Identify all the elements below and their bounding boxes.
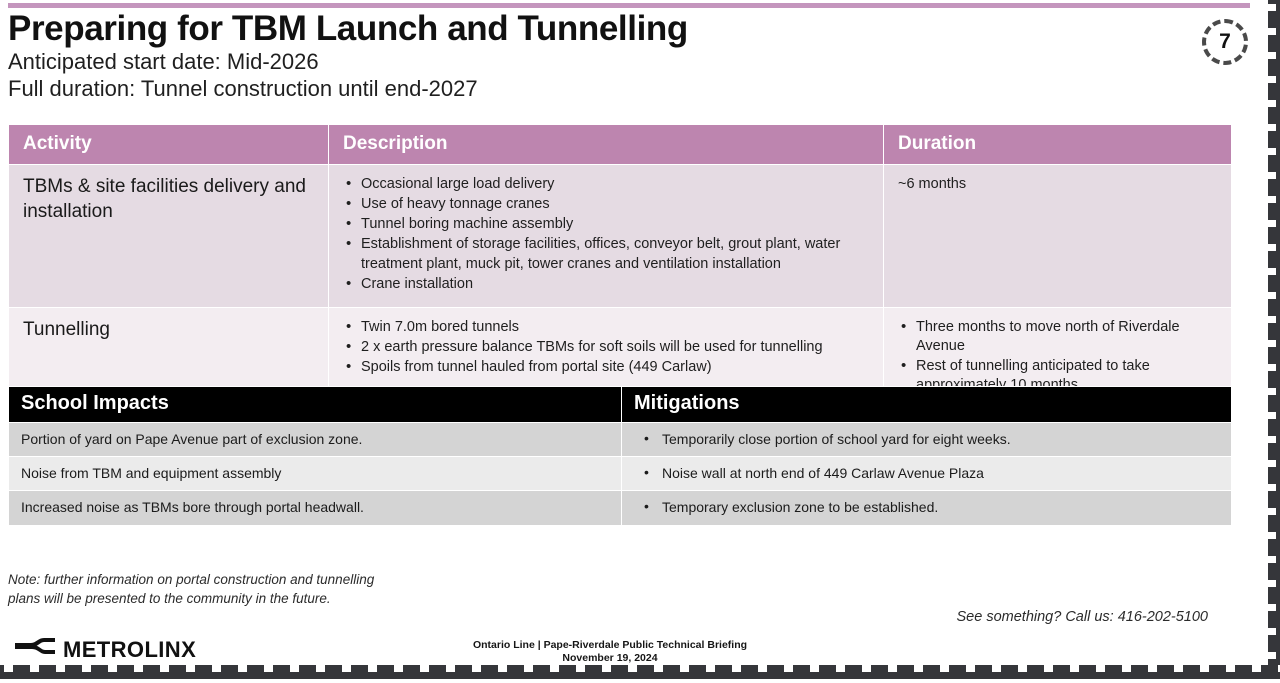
cell-mitigation: Temporarily close portion of school yard…	[622, 423, 1232, 457]
frame-tick	[1268, 148, 1276, 155]
frame-tick	[134, 665, 143, 672]
metrolinx-logo: METROLINX	[14, 636, 196, 663]
activity-name: Tunnelling	[23, 318, 316, 343]
subtitle-start-date: Anticipated start date: Mid-2026	[8, 48, 1158, 76]
subtitle-full-duration: Full duration: Tunnel construction until…	[8, 75, 1158, 103]
frame-tick	[30, 665, 39, 672]
metrolinx-crossing-lines-icon	[14, 636, 56, 663]
frame-tick	[472, 665, 481, 672]
list-item: Twin 7.0m bored tunnels	[343, 318, 871, 337]
frame-tick	[1268, 508, 1276, 515]
table-row: Noise from TBM and equipment assembly No…	[9, 457, 1232, 491]
frame-tick	[1252, 665, 1261, 672]
list-item: Crane installation	[343, 275, 871, 294]
list-item: Tunnel boring machine assembly	[343, 215, 871, 234]
activity-table-header-row: Activity Description Duration	[9, 125, 1232, 165]
frame-tick	[732, 665, 741, 672]
contact-callout: See something? Call us: 416-202-5100	[957, 609, 1209, 625]
bottom-edge-dashed-frame	[0, 665, 1280, 679]
frame-tick	[1268, 484, 1276, 491]
column-header-school-impacts: School Impacts	[9, 387, 622, 423]
frame-tick	[992, 665, 1001, 672]
column-header-description: Description	[329, 125, 884, 165]
frame-tick	[264, 665, 273, 672]
frame-tick	[654, 665, 663, 672]
mitigation-text: Noise wall at north end of 449 Carlaw Av…	[640, 464, 1221, 482]
frame-tick	[784, 665, 793, 672]
frame-tick	[1122, 665, 1131, 672]
frame-tick	[1268, 652, 1276, 659]
footnote: Note: further information on portal cons…	[8, 570, 528, 608]
frame-tick	[316, 665, 325, 672]
cell-impact: Increased noise as TBMs bore through por…	[9, 491, 622, 525]
page-number-value: 7	[1219, 30, 1231, 54]
frame-tick	[1268, 76, 1276, 83]
frame-tick	[680, 665, 689, 672]
frame-tick	[1268, 460, 1276, 467]
frame-tick	[1268, 4, 1276, 11]
cell-description: Occasional large load deliveryUse of hea…	[329, 165, 884, 308]
frame-tick	[1268, 604, 1276, 611]
frame-tick	[1200, 665, 1209, 672]
list-item: Three months to move north of Riverdale …	[898, 318, 1219, 356]
frame-tick	[394, 665, 403, 672]
frame-tick	[1226, 665, 1235, 672]
frame-tick	[810, 665, 819, 672]
page-number-badge: 7	[1202, 19, 1248, 65]
frame-tick	[1268, 292, 1276, 299]
frame-tick	[1268, 52, 1276, 59]
frame-tick	[836, 665, 845, 672]
frame-tick	[1268, 172, 1276, 179]
frame-tick	[1268, 100, 1276, 107]
top-accent-rule	[8, 3, 1250, 8]
cell-activity: TBMs & site facilities delivery and inst…	[9, 165, 329, 308]
column-header-duration: Duration	[884, 125, 1232, 165]
frame-tick	[82, 665, 91, 672]
frame-tick	[342, 665, 351, 672]
list-item: Spoils from tunnel hauled from portal si…	[343, 358, 871, 377]
frame-tick	[628, 665, 637, 672]
frame-tick	[1268, 124, 1276, 131]
table-row: TBMs & site facilities delivery and inst…	[9, 165, 1232, 308]
table-row: Portion of yard on Pape Avenue part of e…	[9, 423, 1232, 457]
column-header-activity: Activity	[9, 125, 329, 165]
footnote-line-1: Note: further information on portal cons…	[8, 570, 528, 589]
frame-tick	[914, 665, 923, 672]
list-item: Establishment of storage facilities, off…	[343, 235, 871, 273]
frame-tick	[1174, 665, 1183, 672]
frame-tick	[1268, 412, 1276, 419]
cell-duration: ~6 months	[884, 165, 1232, 308]
duration-value: ~6 months	[898, 175, 1219, 194]
mitigation-text: Temporary exclusion zone to be establish…	[640, 498, 1221, 516]
frame-tick	[212, 665, 221, 672]
frame-tick	[160, 665, 169, 672]
frame-tick	[186, 665, 195, 672]
frame-tick	[498, 665, 507, 672]
mitigation-text: Temporarily close portion of school yard…	[640, 430, 1221, 448]
frame-tick	[368, 665, 377, 672]
description-bullet-list: Occasional large load deliveryUse of hea…	[343, 175, 871, 294]
footnote-line-2: plans will be presented to the community…	[8, 589, 528, 608]
frame-tick	[108, 665, 117, 672]
table-row: Increased noise as TBMs bore through por…	[9, 491, 1232, 525]
frame-tick	[1268, 196, 1276, 203]
frame-tick	[1044, 665, 1053, 672]
cell-impact: Portion of yard on Pape Avenue part of e…	[9, 423, 622, 457]
frame-tick	[1268, 316, 1276, 323]
frame-tick	[4, 665, 13, 672]
frame-tick	[446, 665, 455, 672]
frame-tick	[1268, 532, 1276, 539]
frame-tick	[1018, 665, 1027, 672]
duration-bullet-list: Three months to move north of Riverdale …	[898, 318, 1219, 396]
frame-tick	[56, 665, 65, 672]
list-item: Use of heavy tonnage cranes	[343, 195, 871, 214]
frame-tick	[420, 665, 429, 672]
slide-header: Preparing for TBM Launch and Tunnelling …	[8, 10, 1158, 103]
frame-tick	[966, 665, 975, 672]
activity-name: TBMs & site facilities delivery and inst…	[23, 175, 316, 224]
brand-name: METROLINX	[63, 637, 196, 663]
frame-tick	[1268, 388, 1276, 395]
frame-tick	[1148, 665, 1157, 672]
right-edge-dashed-frame	[1268, 0, 1280, 679]
frame-tick	[1070, 665, 1079, 672]
frame-tick	[1268, 268, 1276, 275]
activity-schedule-table: Activity Description Duration TBMs & sit…	[8, 124, 1232, 409]
frame-tick	[940, 665, 949, 672]
frame-tick	[524, 665, 533, 672]
cell-impact: Noise from TBM and equipment assembly	[9, 457, 622, 491]
frame-tick	[706, 665, 715, 672]
impacts-table-header-row: School Impacts Mitigations	[9, 387, 1232, 423]
frame-tick	[1268, 244, 1276, 251]
description-bullet-list: Twin 7.0m bored tunnels2 x earth pressur…	[343, 318, 871, 377]
frame-tick	[888, 665, 897, 672]
frame-tick	[238, 665, 247, 672]
frame-tick	[550, 665, 559, 672]
frame-tick	[1268, 364, 1276, 371]
frame-tick	[758, 665, 767, 672]
frame-tick	[1268, 436, 1276, 443]
frame-tick	[602, 665, 611, 672]
cell-mitigation: Noise wall at north end of 449 Carlaw Av…	[622, 457, 1232, 491]
frame-tick	[1096, 665, 1105, 672]
column-header-mitigations: Mitigations	[622, 387, 1232, 423]
list-item: Occasional large load delivery	[343, 175, 871, 194]
frame-tick	[1268, 556, 1276, 563]
frame-tick	[1268, 628, 1276, 635]
school-impacts-table: School Impacts Mitigations Portion of ya…	[8, 386, 1232, 526]
frame-tick	[1268, 580, 1276, 587]
frame-tick	[862, 665, 871, 672]
cell-mitigation: Temporary exclusion zone to be establish…	[622, 491, 1232, 525]
frame-tick	[576, 665, 585, 672]
frame-tick	[1268, 28, 1276, 35]
page-title: Preparing for TBM Launch and Tunnelling	[8, 10, 1158, 48]
frame-tick	[1268, 220, 1276, 227]
frame-tick	[290, 665, 299, 672]
frame-tick	[1268, 340, 1276, 347]
list-item: 2 x earth pressure balance TBMs for soft…	[343, 338, 871, 357]
